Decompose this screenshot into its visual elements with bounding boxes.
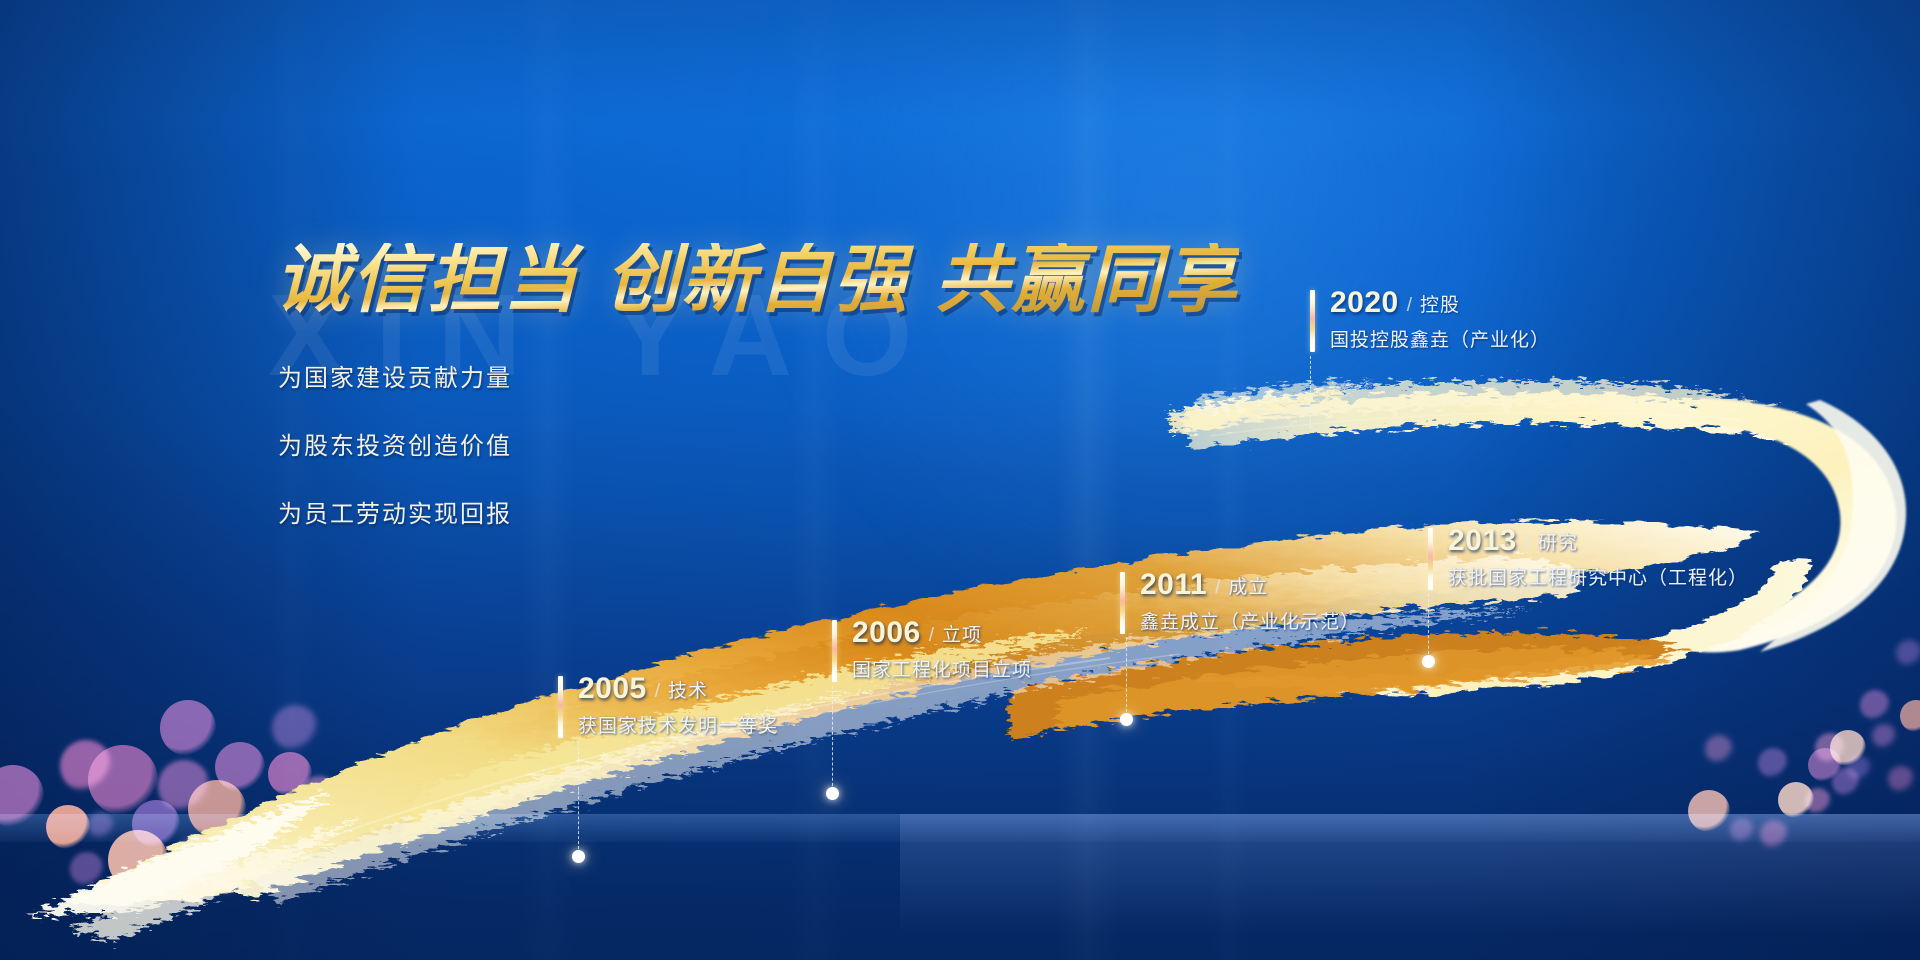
leader-line-2013 [1428, 594, 1429, 659]
milestone-description: 获批国家工程研究中心（工程化） [1448, 563, 1748, 590]
headline-part-3: 共赢同享 [935, 238, 1239, 321]
slogan-line-1: 为国家建设贡献力量 [278, 358, 512, 393]
milestone-accent-bar [1120, 572, 1125, 634]
page-title: 诚信担当创新自强共赢同享 [275, 243, 1239, 317]
milestone-separator: / [655, 680, 660, 704]
milestone-description: 国投控股鑫垚（产业化） [1330, 325, 1550, 352]
slogan-line-3: 为员工劳动实现回报 [278, 494, 512, 529]
milestone-tag: 研究 [1538, 532, 1578, 556]
milestone-separator: / [1215, 576, 1220, 600]
milestone-heading: 2006 / 立项 [852, 618, 1032, 648]
milestone-tag: 立项 [942, 624, 982, 648]
milestone-accent-bar [558, 676, 563, 738]
milestone-2006[interactable]: 2006 / 立项 国家工程化项目立项 [852, 618, 1032, 682]
milestone-accent-bar [1428, 528, 1433, 590]
milestone-year: 2020 [1330, 288, 1399, 318]
milestone-year: 2005 [578, 674, 647, 704]
milestone-heading: 2011 / 成立 [1140, 570, 1360, 600]
timeline-dot-2006[interactable] [826, 787, 839, 800]
milestone-year: 2011 [1140, 570, 1207, 600]
milestone-description: 国家工程化项目立项 [852, 655, 1032, 682]
milestone-separator: / [929, 624, 934, 648]
leader-line-2005 [578, 742, 579, 854]
milestone-2005[interactable]: 2005 / 技术 获国家技术发明一等奖 [578, 674, 778, 738]
milestone-tag: 技术 [668, 680, 708, 704]
banner-canvas: XIN YAO 诚信担当创新自强共赢同享 为国家建设贡献力量 为股东投资创造价值… [0, 0, 1920, 960]
leader-line-2011 [1126, 638, 1127, 717]
milestone-2013[interactable]: 2013 / 研究 获批国家工程研究中心（工程化） [1448, 526, 1748, 590]
milestone-year: 2006 [852, 618, 921, 648]
leader-line-2006 [832, 686, 833, 791]
milestone-description: 获国家技术发明一等奖 [578, 711, 778, 738]
timeline-dot-2005[interactable] [572, 850, 585, 863]
milestone-heading: 2020 / 控股 [1330, 288, 1550, 318]
milestone-description: 鑫垚成立（产业化示范） [1140, 607, 1360, 634]
timeline-dot-2011[interactable] [1120, 713, 1133, 726]
milestone-2020[interactable]: 2020 / 控股 国投控股鑫垚（产业化） [1330, 288, 1550, 352]
headline-part-2: 创新自强 [605, 238, 909, 321]
milestone-accent-bar [832, 620, 837, 682]
leader-line-2020 [1310, 356, 1311, 428]
milestone-heading: 2013 / 研究 [1448, 526, 1748, 556]
timeline-dot-2013[interactable] [1422, 655, 1435, 668]
milestone-separator: / [1525, 532, 1530, 556]
milestone-heading: 2005 / 技术 [578, 674, 778, 704]
slogan-line-2: 为股东投资创造价值 [278, 426, 512, 461]
headline-part-1: 诚信担当 [275, 238, 579, 321]
milestone-tag: 控股 [1420, 294, 1460, 318]
milestone-accent-bar [1310, 290, 1315, 352]
slogan-list: 为国家建设贡献力量 为股东投资创造价值 为员工劳动实现回报 [278, 358, 512, 562]
milestone-tag: 成立 [1228, 576, 1268, 600]
milestone-2011[interactable]: 2011 / 成立 鑫垚成立（产业化示范） [1140, 570, 1360, 634]
milestone-year: 2013 [1448, 526, 1517, 556]
milestone-separator: / [1407, 294, 1412, 318]
